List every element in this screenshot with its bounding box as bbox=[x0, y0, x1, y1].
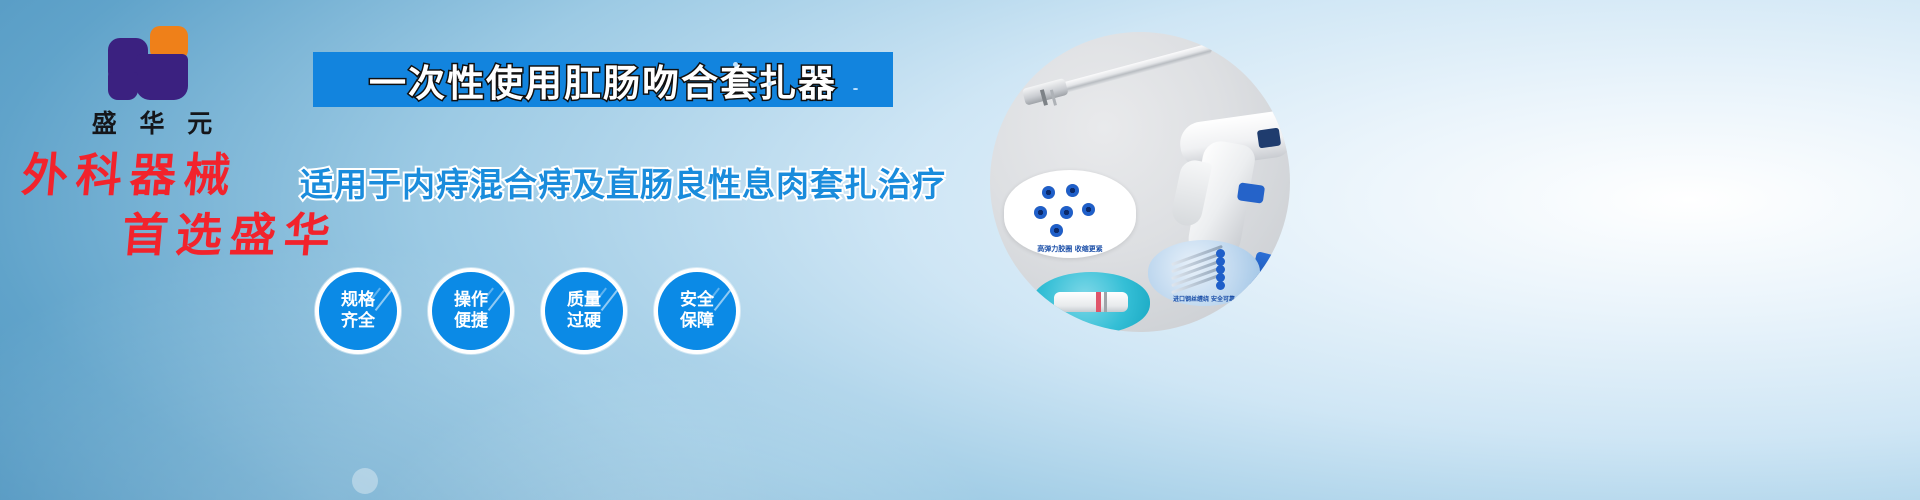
slogan-line-2: 首选盛华 bbox=[120, 212, 340, 258]
tube-band-icon bbox=[1096, 292, 1101, 312]
callout-rubber-rings: 高弹力胶圈 收缩更紧 bbox=[1004, 170, 1136, 258]
badge-label-line2: 过硬 bbox=[567, 311, 601, 332]
logo-blocks-icon bbox=[106, 26, 198, 100]
rubber-ring-icon bbox=[1042, 186, 1055, 199]
feature-badge-safety[interactable]: 安全 保障 bbox=[654, 268, 740, 354]
device-control-panel bbox=[1257, 128, 1281, 149]
rubber-ring-icon bbox=[1066, 184, 1079, 197]
logo-block-right bbox=[136, 54, 188, 100]
callout-tube bbox=[1032, 272, 1150, 332]
callout-needles-caption: 进口钢丝缠绕 安全可靠 bbox=[1148, 294, 1260, 303]
product-image: 高弹力胶圈 收缩更紧 进口钢丝缠绕 安全可靠 bbox=[990, 32, 1290, 332]
sparkle-icon bbox=[811, 70, 814, 73]
page-title: 一次性使用肛肠吻合套扎器 bbox=[369, 53, 837, 107]
rubber-ring-icon bbox=[1082, 203, 1095, 216]
tube-band-icon bbox=[1104, 292, 1107, 312]
sparkle-icon bbox=[853, 88, 858, 90]
subtitle: 适用于内痔混合痔及直肠良性息肉套扎治疗 bbox=[300, 158, 920, 206]
badge-label-line2: 保障 bbox=[680, 311, 714, 332]
badge-label-line2: 便捷 bbox=[454, 311, 488, 332]
rubber-ring-icon bbox=[1034, 206, 1047, 219]
promo-banner: 盛 华 元 外科器械 首选盛华 一次性使用肛肠吻合套扎器 适用于内痔混合痔及直肠… bbox=[0, 0, 1920, 500]
feature-badge-specs[interactable]: 规格 齐全 bbox=[315, 268, 401, 354]
feature-badge-quality[interactable]: 质量 过硬 bbox=[541, 268, 627, 354]
sparkle-icon bbox=[733, 62, 738, 67]
brand-logo[interactable]: 盛 华 元 bbox=[62, 26, 242, 140]
feature-badge-operation[interactable]: 操作 便捷 bbox=[428, 268, 514, 354]
callout-rings-caption: 高弹力胶圈 收缩更紧 bbox=[1004, 244, 1136, 254]
callout-needles: 进口钢丝缠绕 安全可靠 bbox=[1148, 240, 1260, 306]
logo-block-bottom-left bbox=[108, 72, 138, 100]
device-blue-button bbox=[1237, 182, 1265, 203]
background-light-sweep-secondary bbox=[330, 350, 1030, 500]
feature-badge-list: 规格 齐全 操作 便捷 质量 过硬 安全 保障 bbox=[315, 268, 740, 354]
headline-bar: 一次性使用肛肠吻合套扎器 bbox=[313, 52, 893, 107]
decorative-dot bbox=[352, 468, 378, 494]
slogan-line-1: 外科器械 bbox=[20, 152, 240, 198]
rubber-ring-icon bbox=[1060, 206, 1073, 219]
rubber-ring-icon bbox=[1050, 224, 1063, 237]
sparkle-icon bbox=[768, 82, 772, 86]
tube-icon bbox=[1054, 292, 1128, 312]
badge-label-line2: 齐全 bbox=[341, 311, 375, 332]
brand-name: 盛 华 元 bbox=[62, 104, 242, 140]
needle-head-icon bbox=[1216, 281, 1225, 290]
